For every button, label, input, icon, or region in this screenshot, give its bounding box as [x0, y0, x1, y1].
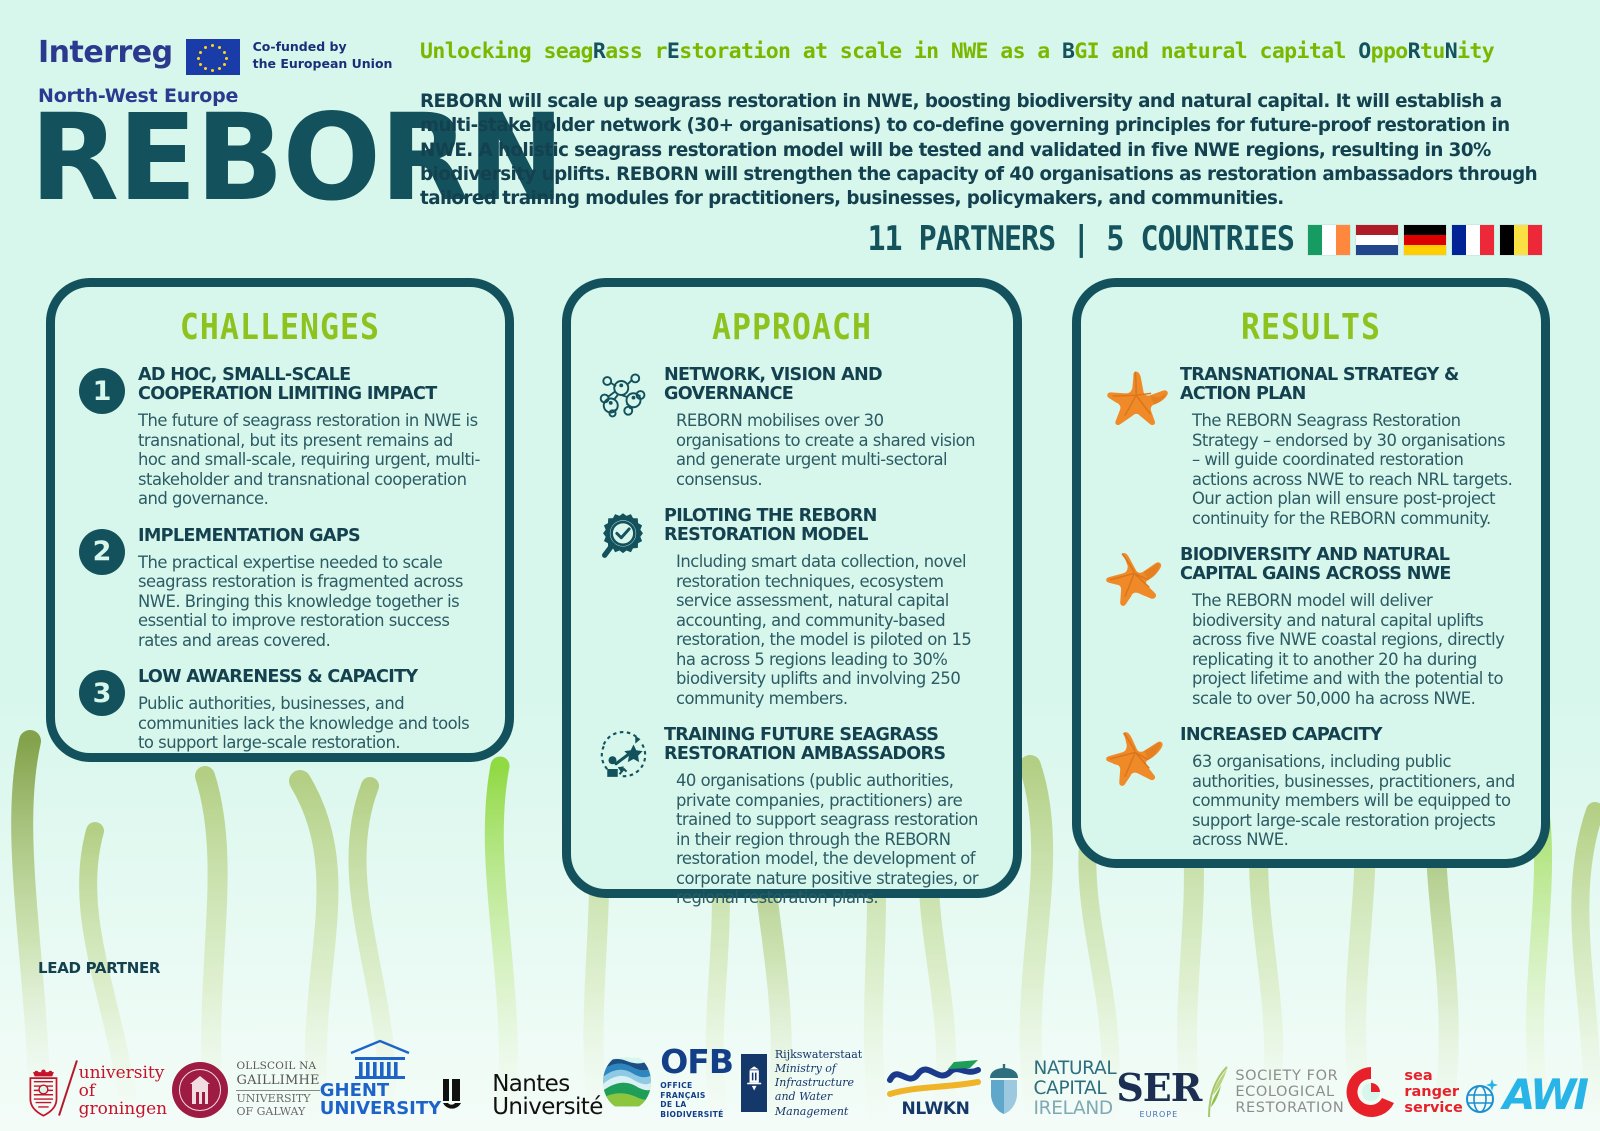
result-heading: BIODIVERSITY AND NATURAL CAPITAL GAINS A… [1180, 546, 1517, 584]
logo-ghent-university: GHENT UNIVERSITY [320, 1039, 441, 1119]
awi-wordmark: AWI [1503, 1070, 1586, 1119]
ser-fullname: SOCIETY FOR ECOLOGICAL RESTORATION [1235, 1068, 1344, 1117]
challenge-number-badge: 3 [79, 670, 125, 716]
approach-title: APPROACH [585, 307, 999, 348]
logo-university-of-groningen: university of groningen [26, 1059, 172, 1119]
groningen-slash-divider [58, 1060, 78, 1116]
approach-item: TRAINING FUTURE SEAGRASS RESTORATION AMB… [595, 726, 989, 908]
rws-line2: Ministry of Infrastructure [775, 1062, 887, 1091]
ofb-acronym: OFB [660, 1045, 740, 1078]
lead-partner-label: LEAD PARTNER [38, 959, 160, 977]
nci-wordmark: NATURAL CAPITAL IRELAND [1033, 1059, 1116, 1119]
ghent-wordmark: GHENT UNIVERSITY [320, 1082, 441, 1119]
nantes-line2: Université [492, 1096, 603, 1119]
flag-netherlands [1356, 225, 1398, 255]
nci-line2: CAPITAL [1033, 1079, 1116, 1099]
challenge-text: Public authorities, businesses, and comm… [138, 694, 481, 753]
challenge-text: The practical expertise needed to scale … [138, 553, 481, 651]
result-heading: TRANSNATIONAL STRATEGY & ACTION PLAN [1180, 366, 1517, 404]
galway-line1: OLLSCOIL NA [236, 1060, 319, 1072]
logo-natural-capital-ireland: NATURAL CAPITAL IRELAND [984, 1059, 1116, 1119]
galway-line3: UNIVERSITY [236, 1090, 319, 1106]
srs-line1: sea [1404, 1068, 1462, 1084]
challenge-item: 1 AD HOC, SMALL-SCALE COOPERATION LIMITI… [79, 366, 481, 509]
result-heading: INCREASED CAPACITY [1180, 726, 1517, 745]
ofb-sub1: OFFICE FRANÇAIS [660, 1081, 740, 1100]
result-item: TRANSNATIONAL STRATEGY & ACTION PLAN The… [1105, 366, 1517, 528]
challenge-text: The future of seagrass restoration in NW… [138, 411, 481, 509]
groningen-line2: groningen [79, 1101, 173, 1119]
ofb-emblem-icon [603, 1054, 652, 1110]
rijkswaterstaat-wordmark: Rijkswaterstaat Ministry of Infrastructu… [775, 1048, 887, 1119]
nlwkn-wave-icon [886, 1054, 984, 1098]
logo-ser-europe: SER EUROPE SOCIETY FOR ECOLOGICAL RESTOR… [1116, 1065, 1344, 1119]
lead-paragraph: REBORN will scale up seagrass restoratio… [420, 90, 1555, 212]
flag-ireland [1308, 225, 1350, 255]
eu-text-line2: the European Union [253, 56, 393, 73]
ser-line3: RESTORATION [1235, 1100, 1344, 1116]
challenge-heading: AD HOC, SMALL-SCALE COOPERATION LIMITING… [138, 366, 481, 404]
ser-acronym: SER [1116, 1065, 1201, 1110]
acorn-icon [984, 1062, 1024, 1116]
sea-ranger-wordmark: sea ranger service [1404, 1068, 1462, 1117]
country-flags [1308, 225, 1542, 255]
challenge-number-badge: 1 [79, 368, 125, 414]
result-text: The REBORN model will deliver biodiversi… [1180, 591, 1517, 708]
eu-cofunding-text: Co-funded by the European Union [253, 38, 393, 73]
results-card: RESULTS TRANSNATIONAL STRATEGY & ACTION … [1072, 278, 1550, 868]
approach-text: 40 organisations (public authorities, pr… [664, 771, 989, 908]
footer: LEAD PARTNER university of groningen [0, 951, 1600, 1131]
ser-line1: SOCIETY FOR [1235, 1068, 1344, 1084]
nci-line1: NATURAL [1033, 1059, 1116, 1079]
galway-wordmark: OLLSCOIL NA GAILLIMHE UNIVERSITY OF GALW… [236, 1060, 319, 1119]
results-title: RESULTS [1095, 307, 1528, 348]
starfish-icon [1105, 548, 1171, 608]
awi-globe-icon [1463, 1075, 1501, 1115]
gear-magnifier-check-icon [595, 508, 651, 564]
approach-heading: PILOTING THE REBORN RESTORATION MODEL [664, 507, 989, 545]
result-text: 63 organisations, including public autho… [1180, 752, 1517, 850]
ofb-wordmark: OFB OFFICE FRANÇAIS DE LA BIODIVERSITÉ [660, 1045, 740, 1119]
groningen-crest-icon [26, 1067, 61, 1119]
srs-line3: service [1404, 1100, 1462, 1116]
ser-leaf-icon [1205, 1065, 1231, 1119]
network-nodes-icon [595, 367, 651, 423]
flag-france [1452, 225, 1494, 255]
interreg-wordmark: Interreg [38, 38, 173, 68]
challenge-item: 3 LOW AWARENESS & CAPACITY Public author… [79, 668, 481, 753]
ser-line2: ECOLOGICAL [1235, 1084, 1344, 1100]
nlwkn-wordmark: NLWKN [886, 1099, 984, 1119]
approach-heading: TRAINING FUTURE SEAGRASS RESTORATION AMB… [664, 726, 989, 764]
logo-nlwkn: NLWKN [886, 1054, 984, 1119]
challenges-title: CHALLENGES [69, 307, 491, 348]
logo-nantes-universite: Nantes Université [441, 1073, 603, 1119]
approach-item: NETWORK, VISION AND GOVERNANCE REBORN mo… [595, 366, 989, 489]
ghent-temple-icon [347, 1039, 413, 1079]
flag-belgium [1500, 225, 1542, 255]
sea-ranger-ring-icon [1344, 1065, 1398, 1119]
starfish-icon [1105, 368, 1171, 428]
challenge-item: 2 IMPLEMENTATION GAPS The practical expe… [79, 527, 481, 651]
galway-line2: GAILLIMHE [236, 1073, 319, 1088]
flag-germany [1404, 225, 1446, 255]
starfish-icon [1105, 728, 1171, 788]
approach-text: Including smart data collection, novel r… [664, 552, 989, 708]
challenge-number-badge: 2 [79, 529, 125, 575]
challenges-card: CHALLENGES 1 AD HOC, SMALL-SCALE COOPERA… [46, 278, 514, 762]
header: Interreg Co-funded by the European Union [0, 0, 1600, 280]
groningen-wordmark: university of groningen [79, 1065, 173, 1119]
nantes-wordmark: Nantes Université [492, 1073, 603, 1119]
approach-heading: NETWORK, VISION AND GOVERNANCE [664, 366, 989, 404]
partners-stat: 11 PARTNERS | 5 COUNTRIES [867, 220, 1294, 259]
rws-line3: and Water Management [775, 1090, 887, 1119]
nantes-line1: Nantes [492, 1073, 603, 1096]
approach-card: APPROACH NETWORK, VISION AND GOVERNANCE … [562, 278, 1022, 898]
eu-flag-icon [186, 39, 240, 75]
result-text: The REBORN Seagrass Restoration Strategy… [1180, 411, 1517, 528]
logo-awi: AWI [1463, 1070, 1586, 1119]
rijkswaterstaat-crest-icon [741, 1054, 767, 1112]
ofb-sub2: DE LA BIODIVERSITÉ [660, 1100, 740, 1119]
result-item: BIODIVERSITY AND NATURAL CAPITAL GAINS A… [1105, 546, 1517, 708]
logo-rijkswaterstaat: Rijkswaterstaat Ministry of Infrastructu… [741, 1048, 887, 1119]
nantes-monogram-icon [441, 1077, 483, 1115]
person-star-growth-icon [595, 727, 651, 783]
logo-sea-ranger-service: sea ranger service [1344, 1065, 1462, 1119]
srs-line2: ranger [1404, 1084, 1462, 1100]
logo-ofb: OFB OFFICE FRANÇAIS DE LA BIODIVERSITÉ [603, 1045, 741, 1119]
ghent-line2: UNIVERSITY [320, 1100, 441, 1119]
approach-item: PILOTING THE REBORN RESTORATION MODEL In… [595, 507, 989, 708]
ser-europe-label: EUROPE [1116, 1110, 1201, 1119]
partner-logo-strip: university of groningen OLLSCOIL NA GAIL… [26, 1007, 1586, 1119]
eu-text-line1: Co-funded by [253, 39, 393, 56]
groningen-line1: university of [79, 1065, 173, 1101]
approach-text: REBORN mobilises over 30 organisations t… [664, 411, 989, 489]
challenge-heading: LOW AWARENESS & CAPACITY [138, 668, 481, 687]
galway-seal-icon [172, 1062, 228, 1118]
galway-line4: OF GALWAY [236, 1106, 319, 1119]
partners-countries-bar: 11 PARTNERS | 5 COUNTRIES [867, 222, 1542, 257]
challenge-heading: IMPLEMENTATION GAPS [138, 527, 481, 546]
rws-line1: Rijkswaterstaat [775, 1048, 887, 1062]
logo-university-of-galway: OLLSCOIL NA GAILLIMHE UNIVERSITY OF GALW… [172, 1060, 319, 1119]
nci-line3: IRELAND [1033, 1099, 1116, 1119]
result-item: INCREASED CAPACITY 63 organisations, inc… [1105, 726, 1517, 850]
headline: Unlocking seagRass rEstoration at scale … [420, 40, 1580, 64]
